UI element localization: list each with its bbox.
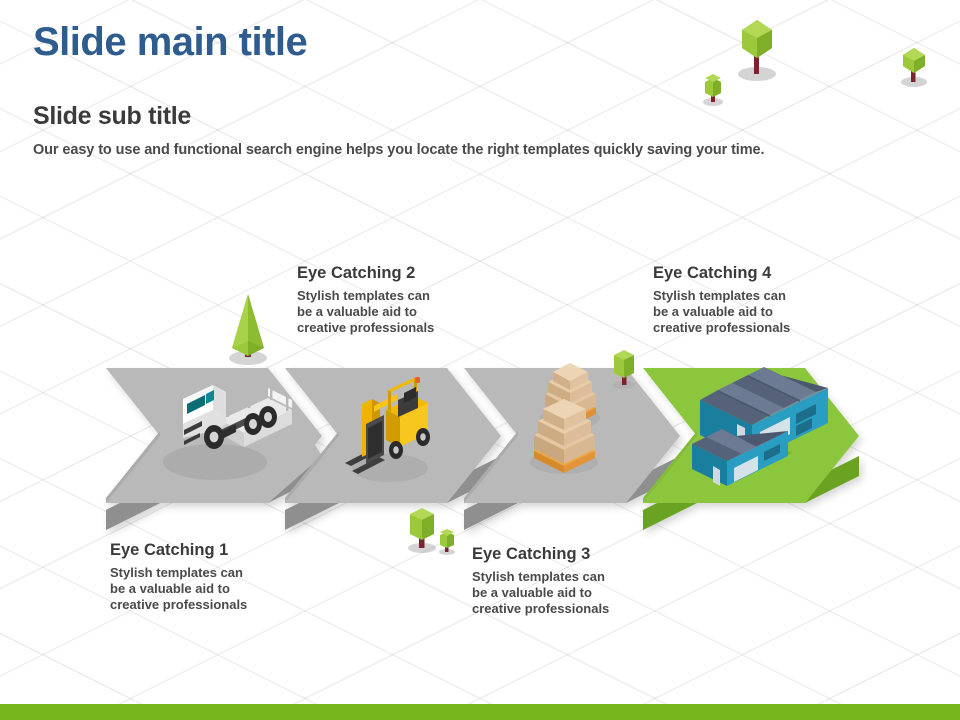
step-body-line: be a valuable aid to	[472, 585, 687, 601]
step-body-2: Stylish templates can be a valuable aid …	[297, 288, 512, 336]
page-title: Slide main title	[33, 20, 307, 65]
cube-tree-small-top	[703, 74, 723, 106]
step-caption-1[interactable]: Eye Catching 1 Stylish templates can be …	[110, 541, 325, 613]
step-body-line: be a valuable aid to	[653, 304, 868, 320]
step-body-line: Stylish templates can	[472, 569, 687, 585]
step-title-2: Eye Catching 2	[297, 264, 512, 283]
step-body-line: creative professionals	[110, 597, 325, 613]
step-caption-3[interactable]: Eye Catching 3 Stylish templates can be …	[472, 545, 687, 617]
pine-tree-large	[229, 294, 267, 365]
step-body-line: Stylish templates can	[110, 565, 325, 581]
polygon-tree-large-top	[738, 20, 776, 81]
step-title-3: Eye Catching 3	[472, 545, 687, 564]
step-caption-4[interactable]: Eye Catching 4 Stylish templates can be …	[653, 264, 868, 336]
slide-canvas: Slide main title Slide sub title Our eas…	[0, 0, 960, 720]
step-title-1: Eye Catching 1	[110, 541, 325, 560]
polygon-tree-medium-top	[901, 48, 927, 87]
step-body-1: Stylish templates can be a valuable aid …	[110, 565, 325, 613]
step-body-line: creative professionals	[297, 320, 512, 336]
cube-tree-small-right	[613, 350, 635, 389]
step-body-line: Stylish templates can	[297, 288, 512, 304]
step-body-4: Stylish templates can be a valuable aid …	[653, 288, 868, 336]
step-body-line: creative professionals	[472, 601, 687, 617]
step-body-line: be a valuable aid to	[297, 304, 512, 320]
step-caption-2[interactable]: Eye Catching 2 Stylish templates can be …	[297, 264, 512, 336]
step-body-line: Stylish templates can	[653, 288, 868, 304]
warehouse-icon	[692, 367, 828, 720]
step-body-3: Stylish templates can be a valuable aid …	[472, 569, 687, 617]
cube-tree-tiny-bottom	[439, 529, 455, 555]
step-body-line: be a valuable aid to	[110, 581, 325, 597]
page-subtitle: Slide sub title	[33, 102, 191, 131]
footer-accent-bar	[0, 704, 960, 720]
step-body-line: creative professionals	[653, 320, 868, 336]
page-tagline: Our easy to use and functional search en…	[33, 142, 764, 158]
step-title-4: Eye Catching 4	[653, 264, 868, 283]
cube-tree-medium-bottom	[408, 508, 436, 553]
